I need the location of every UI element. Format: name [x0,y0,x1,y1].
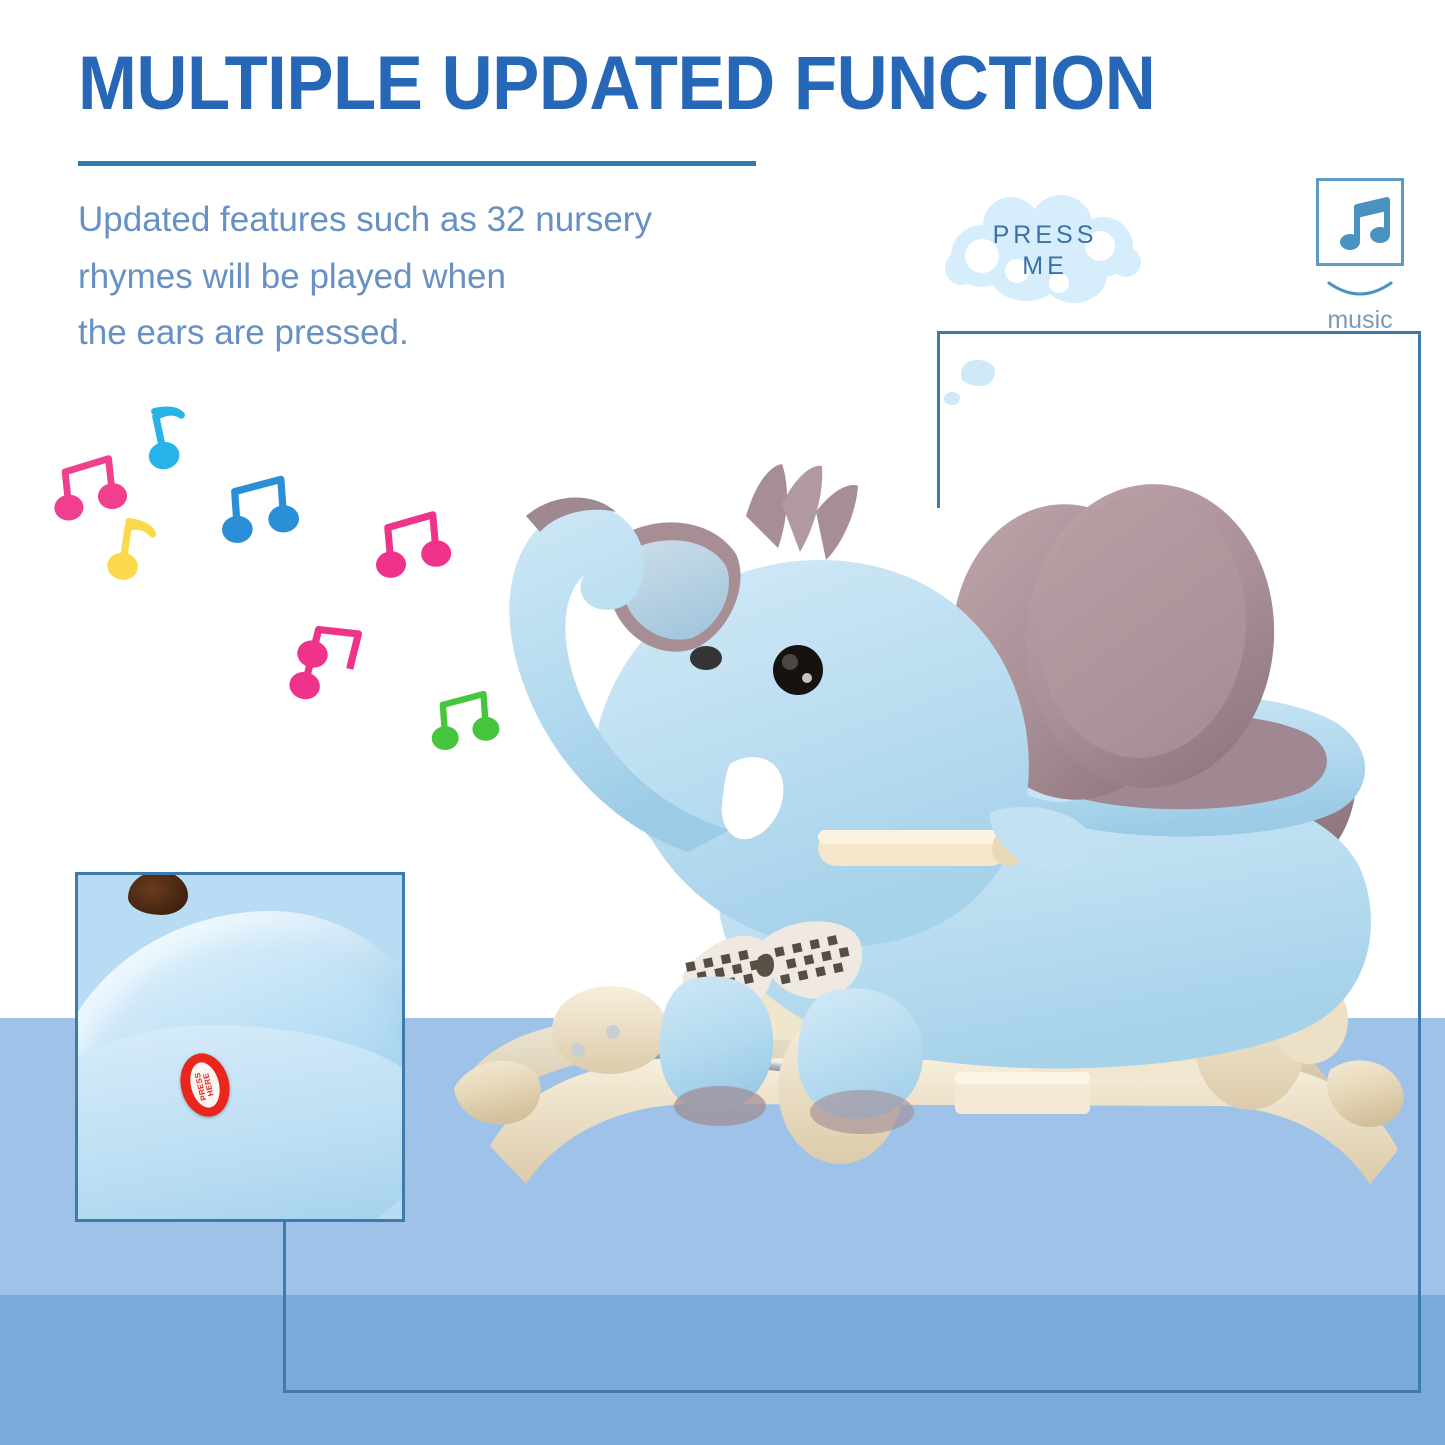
decorative-splash-icon [961,360,995,386]
inset-eye-blob [128,872,188,915]
background-band-dark [0,1295,1445,1445]
inset-ear-fold [75,1025,405,1222]
callout-connector-top [937,331,1421,334]
callout-connector-inset [283,1221,286,1393]
description-line-2: rhymes will be played when [78,249,818,306]
inset-detail-photo: PRESS HERE [75,872,405,1222]
press-me-line-1: PRESS [945,220,1145,251]
description-line-3: the ears are pressed. [78,305,818,362]
decorative-splash-icon [944,392,960,405]
note-yellow-single-icon [96,506,201,615]
press-me-label: PRESS ME [945,220,1145,281]
press-me-badge: PRESS ME [945,195,1145,305]
music-note-icon [1337,197,1391,253]
elephant-eye [773,645,823,695]
product-image [430,420,1430,1250]
sticker-inner: PRESS HERE [186,1059,224,1110]
note-blue-pair-icon [212,467,311,570]
music-feature-callout: music [1300,178,1420,335]
press-me-line-2: ME [945,251,1145,282]
description-text: Updated features such as 32 nursery rhym… [78,192,818,362]
wooden-handle [818,830,1024,866]
sticker-label: PRESS HERE [193,1069,216,1101]
note-pink-pair-3-icon [278,610,391,726]
description-line-1: Updated features such as 32 nursery [78,192,818,249]
product-illustration [430,420,1430,1250]
music-icon-box [1316,178,1404,266]
page-title: MULTIPLE UPDATED FUNCTION [78,44,1278,124]
title-underline-rule [78,161,756,166]
smile-arc-icon [1325,280,1395,302]
callout-connector-bottom [283,1390,1421,1393]
